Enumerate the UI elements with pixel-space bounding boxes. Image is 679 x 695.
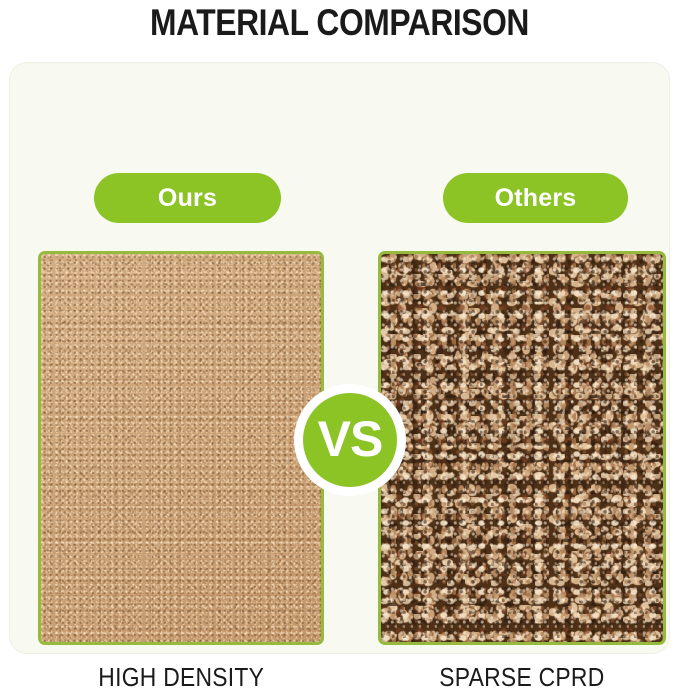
caption-right: SPARSE CPRD [378,659,666,695]
vs-badge: VS [294,384,406,496]
sample-panel-right [378,251,666,645]
caption-left-text: HIGH DENSITY [98,662,264,693]
pill-others: Others [443,173,628,223]
pill-ours-label: Ours [158,184,217,213]
caption-left: HIGH DENSITY [38,659,324,695]
vs-badge-label: VS [318,414,383,464]
fine-dense-cork-texture [41,254,321,642]
sample-panel-left [38,251,324,645]
caption-right-text: SPARSE CPRD [439,662,604,693]
pill-ours: Ours [94,173,281,223]
comparison-card: Ours Others VS HIGH DENSITY SPARSE CPRD [9,62,670,654]
coarse-sparse-cork-texture [381,254,663,642]
pill-others-label: Others [495,184,577,213]
vs-badge-circle: VS [303,393,397,487]
page-title: MATERIAL COMPARISON [48,2,632,44]
coarse-speckle-overlay [381,254,663,642]
